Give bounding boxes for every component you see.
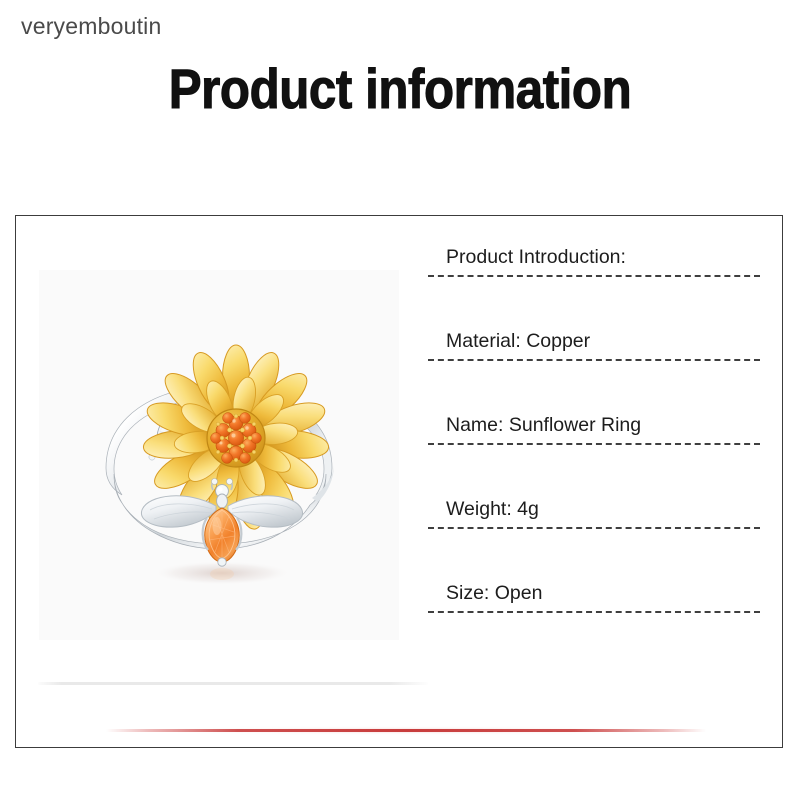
product-image-stage — [39, 270, 399, 640]
spec-label-name: Name: Sunflower Ring — [428, 412, 768, 438]
spec-row-product-introduction: Product Introduction: — [428, 244, 768, 277]
product-information-card: Product Introduction: Material: Copper N… — [15, 215, 783, 748]
spec-row-size: Size: Open — [428, 580, 768, 613]
spec-row-material: Material: Copper — [428, 328, 768, 361]
glow-core — [106, 729, 706, 732]
spec-spacer-2 — [428, 361, 768, 412]
spec-spacer-4 — [428, 529, 768, 580]
image-underline-divider — [38, 682, 428, 685]
spec-divider-5 — [428, 611, 760, 613]
spec-divider-3 — [428, 443, 760, 445]
bee-thorax — [217, 494, 228, 508]
spec-label-material: Material: Copper — [428, 328, 768, 354]
bottom-red-glow — [106, 727, 706, 734]
product-spec-list: Product Introduction: Material: Copper N… — [428, 244, 768, 613]
spec-label-product-introduction: Product Introduction: — [428, 244, 768, 270]
spec-spacer-3 — [428, 445, 768, 496]
spec-label-weight: Weight: 4g — [428, 496, 768, 522]
shop-watermark: veryemboutin — [21, 13, 161, 40]
sunflower-bee-ring-image — [54, 290, 384, 620]
spec-spacer-1 — [428, 277, 768, 328]
bee-tail-bead — [218, 558, 226, 566]
spec-divider-2 — [428, 359, 760, 361]
page-title: Product information — [48, 61, 752, 117]
spec-label-size: Size: Open — [428, 580, 768, 606]
spec-divider-1 — [428, 275, 760, 277]
spec-row-name: Name: Sunflower Ring — [428, 412, 768, 445]
product-image-panel — [39, 270, 399, 640]
spec-row-weight: Weight: 4g — [428, 496, 768, 529]
spec-divider-4 — [428, 527, 760, 529]
